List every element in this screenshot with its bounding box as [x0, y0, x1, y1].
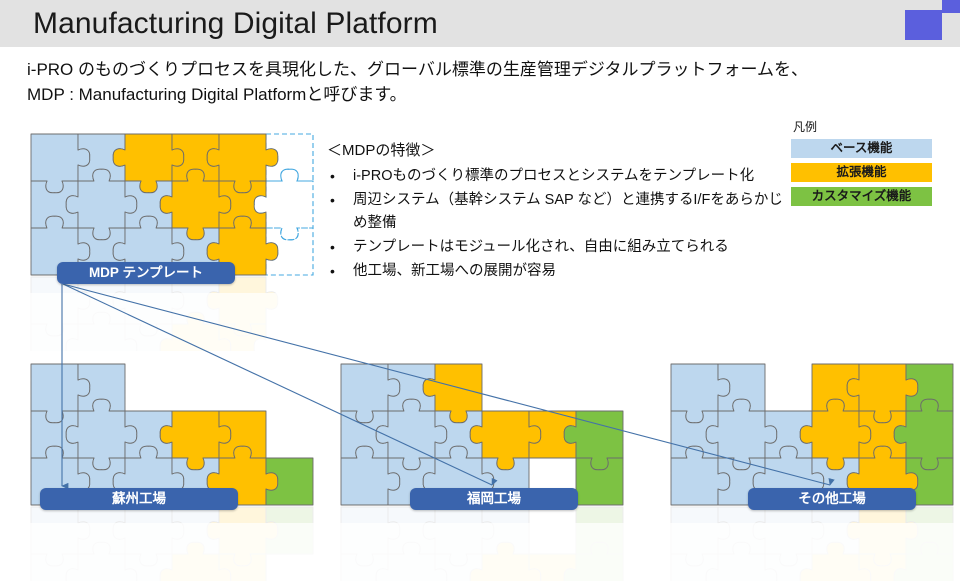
- label-fukuoka-factory[interactable]: 福岡工場: [410, 488, 578, 510]
- puzzle-mdp-template: [17, 120, 327, 351]
- legend-item-custom: カスタマイズ機能: [791, 187, 932, 206]
- features-list: • i-PROものづくり標準のプロセスとシステムをテンプレート化 • 周辺システ…: [325, 165, 785, 283]
- intro-line-2: MDP : Manufacturing Digital Platformと呼びま…: [27, 82, 827, 107]
- puzzle-suzhou-factory: [17, 350, 327, 581]
- bullet-icon: •: [330, 165, 335, 188]
- label-other-factory[interactable]: その他工場: [748, 488, 916, 510]
- bullet-icon: •: [330, 260, 335, 283]
- feature-item: • テンプレートはモジュール化され、自由に組み立てられる: [325, 236, 785, 259]
- puzzle-fukuoka-factory: [327, 350, 637, 581]
- puzzle-other-factory: [657, 350, 960, 581]
- feature-item: • i-PROものづくり標準のプロセスとシステムをテンプレート化: [325, 165, 785, 188]
- intro-paragraph: i-PRO のものづくりプロセスを具現化した、グローバル標準の生産管理デジタルプ…: [27, 57, 827, 107]
- legend-item-base: ベース機能: [791, 139, 932, 158]
- puzzle-svg: [17, 120, 327, 351]
- label-suzhou-factory[interactable]: 蘇州工場: [40, 488, 238, 510]
- bullet-icon: •: [330, 189, 335, 212]
- feature-item-label: テンプレートはモジュール化され、自由に組み立てられる: [353, 239, 729, 255]
- legend-item-extension: 拡張機能: [791, 163, 932, 182]
- page-title: Manufacturing Digital Platform: [33, 4, 438, 44]
- feature-item: • 周辺システム（基幹システム SAP など）と連携するI/Fをあらかじめ整備: [325, 189, 785, 235]
- accent-square-large-icon: [905, 10, 942, 40]
- features-block: ＜MDPの特徴＞ • i-PROものづくり標準のプロセスとシステムをテンプレート…: [325, 139, 785, 284]
- puzzle-svg: [327, 350, 637, 581]
- legend-title: 凡例: [793, 118, 936, 135]
- label-mdp-template[interactable]: MDP テンプレート: [57, 262, 235, 284]
- intro-line-1: i-PRO のものづくりプロセスを具現化した、グローバル標準の生産管理デジタルプ…: [27, 57, 827, 82]
- reflection-veil-lower: [657, 523, 960, 581]
- feature-item: • 他工場、新工場への展開が容易: [325, 260, 785, 283]
- reflection-veil-lower: [17, 293, 327, 351]
- puzzle-svg: [657, 350, 960, 581]
- accent-square-small-icon: [942, 0, 960, 13]
- feature-item-label: 他工場、新工場への展開が容易: [353, 263, 556, 279]
- legend: 凡例 ベース機能 拡張機能 カスタマイズ機能: [791, 118, 936, 211]
- feature-item-label: 周辺システム（基幹システム SAP など）と連携するI/Fをあらかじめ整備: [353, 192, 783, 231]
- puzzle-svg: [17, 350, 327, 581]
- reflection-veil-lower: [17, 523, 327, 581]
- bullet-icon: •: [330, 236, 335, 259]
- feature-item-label: i-PROものづくり標準のプロセスとシステムをテンプレート化: [353, 168, 754, 184]
- features-title: ＜MDPの特徴＞: [327, 139, 785, 163]
- reflection-veil-lower: [327, 523, 637, 581]
